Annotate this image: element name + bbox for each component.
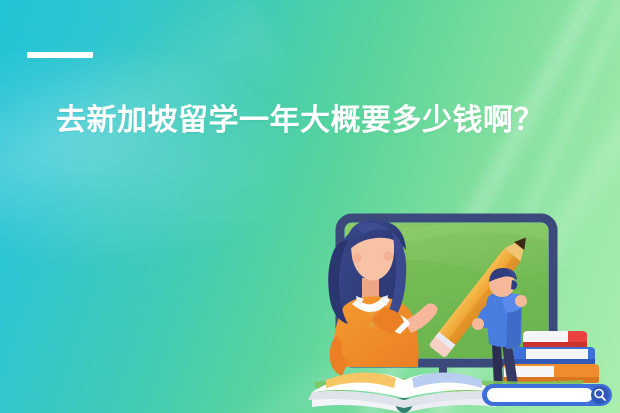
accent-rule [27, 52, 93, 58]
search-bar [482, 384, 612, 406]
book-bottom [503, 364, 599, 383]
woman-blush-right [383, 251, 393, 261]
page-title: 去新加坡留学一年大概要多少钱啊？ [56, 100, 586, 142]
woman-button [369, 311, 374, 316]
woman-button [369, 322, 374, 327]
book-top [523, 331, 587, 348]
banner-root: 去新加坡留学一年大概要多少钱啊？ [0, 0, 620, 413]
education-illustration [296, 196, 620, 413]
search-input[interactable] [487, 388, 593, 402]
boy-hand-back [472, 318, 484, 330]
boy-hand-front [515, 295, 527, 307]
book-middle [513, 347, 595, 365]
search-button[interactable] [591, 386, 609, 404]
glow-top-left [0, 40, 300, 270]
woman-blush-left [352, 253, 362, 263]
